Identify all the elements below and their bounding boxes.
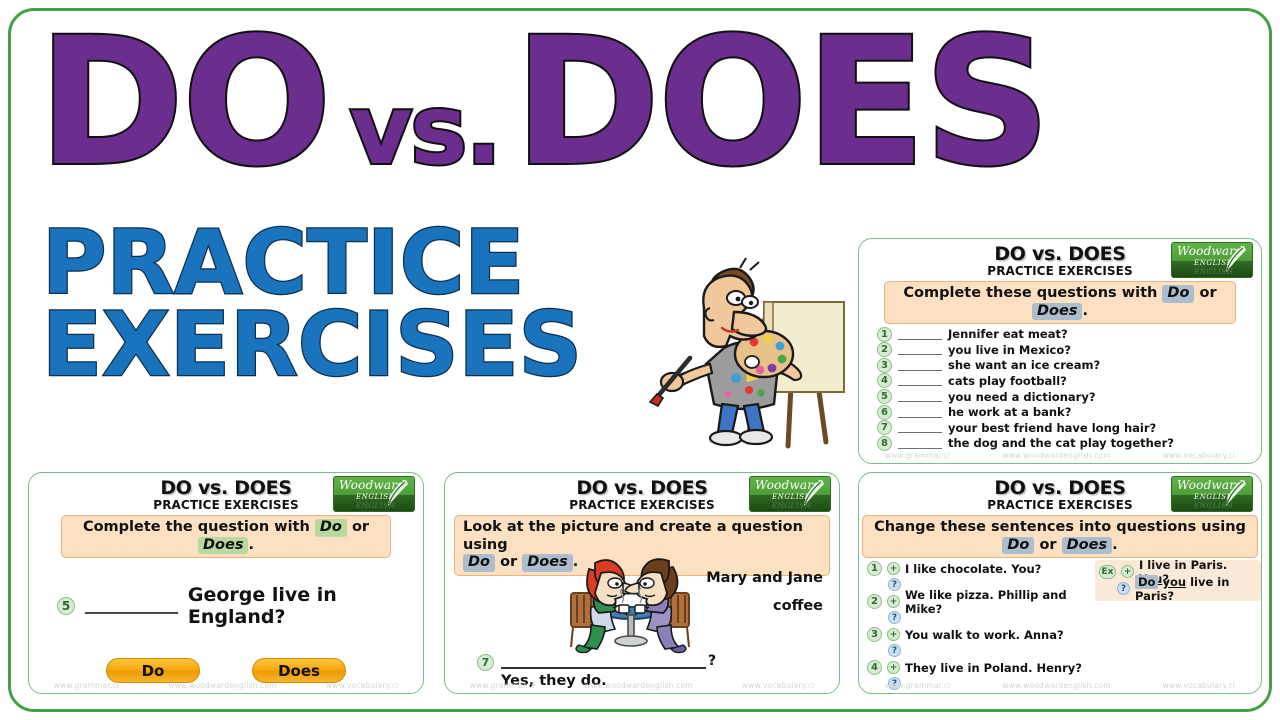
chip-do: Do — [1002, 537, 1034, 555]
title-word-do: DO — [38, 22, 330, 184]
footer-watermarks: www.grammar.cl www.woodwardenglish.com w… — [859, 681, 1261, 690]
statement-text: We like pizza. Phillip and Mike? — [905, 588, 1093, 616]
banner-text-mid: or — [1039, 537, 1056, 553]
banner-text-pre: Complete the question with — [83, 519, 310, 535]
list-item[interactable]: 2 + We like pizza. Phillip and Mike? ? — [867, 593, 1093, 625]
exercise-list: 1 + I like chocolate. You? ? 2 + We like… — [867, 560, 1093, 692]
banner-text-post: . — [1082, 303, 1088, 319]
watermark-grammar: www.grammar.cl — [885, 681, 951, 690]
instruction-banner: Complete these questions with Do or Does… — [884, 281, 1236, 324]
question-text: cats play football? — [948, 374, 1067, 388]
watermark-vocabulary: www.vocabulary.cl — [1163, 681, 1235, 690]
item-number: 1 — [877, 327, 892, 342]
item-number: 7 — [477, 654, 494, 671]
example-answer-do: Do — [1135, 575, 1158, 589]
statement-text: I like chocolate. You? — [905, 562, 1041, 576]
item-number: 4 — [877, 373, 892, 388]
plus-icon: + — [887, 661, 900, 674]
woodward-english-logo: Woodward ENGLISH ENGLISH — [333, 476, 415, 512]
item-number: 1 — [867, 561, 882, 576]
watermark-vocabulary: www.vocabulary.cl — [742, 681, 814, 690]
banner-text-mid: or — [1199, 285, 1216, 301]
statement-row: 4 + They live in Poland. Henry? — [867, 659, 1093, 676]
card-picture-question: DO vs. DOES PRACTICE EXERCISES Woodward … — [444, 472, 840, 694]
footer-watermarks: www.grammar.cl www.woodwardenglish.com w… — [445, 681, 839, 690]
banner-text-pre: Change these sentences into questions us… — [874, 519, 1246, 535]
question-text: you need a dictionary? — [948, 390, 1096, 404]
question-text: George live in England? — [188, 584, 423, 628]
question-text: your best friend have long hair? — [948, 421, 1156, 435]
banner-text-mid: or — [352, 519, 369, 535]
answer-blank[interactable] — [898, 391, 942, 402]
footer-watermarks: www.grammar.cl www.woodwardenglish.com w… — [29, 681, 423, 690]
example-badge: Ex — [1099, 565, 1116, 579]
woodward-english-logo: Woodward ENGLISH ENGLISH — [1171, 242, 1253, 278]
item-number: 5 — [57, 597, 75, 615]
answer-blank[interactable] — [898, 375, 942, 386]
answer-row[interactable]: ? — [867, 643, 1093, 658]
answer-blank[interactable] — [898, 438, 942, 449]
instruction-banner: Change these sentences into questions us… — [862, 515, 1258, 558]
leaf-icon — [1222, 479, 1248, 509]
statement-row: 3 + You walk to work. Anna? — [867, 626, 1093, 643]
answer-blank[interactable] — [898, 360, 942, 371]
item-number: 7 — [877, 420, 892, 435]
chip-does: Does — [1062, 537, 1112, 555]
page-title: DO vs. DOES — [38, 22, 1253, 212]
plus-icon: + — [887, 628, 900, 641]
list-item[interactable]: 3 she want an ice cream? — [877, 358, 1261, 374]
item-number: 2 — [867, 594, 882, 609]
instruction-banner: Complete the question with Do or Does. — [61, 515, 391, 558]
list-item[interactable]: 5 you need a dictionary? — [877, 389, 1261, 405]
banner-text-pre: Look at the picture and create a questio… — [463, 519, 803, 553]
answer-line-wrap: ? — [501, 652, 716, 669]
question-text: you live in Mexico? — [948, 343, 1071, 357]
subtitle-line-practice: PRACTICE — [42, 222, 702, 304]
chip-do: Do — [315, 519, 347, 537]
card-header: DO vs. DOES PRACTICE EXERCISES Woodward … — [445, 473, 839, 515]
leaf-icon — [800, 479, 826, 509]
item-number: 8 — [877, 436, 892, 451]
watermark-grammar: www.grammar.cl — [54, 681, 120, 690]
question-mark: ? — [708, 653, 716, 669]
answer-blank[interactable] — [501, 652, 706, 669]
list-item[interactable]: 6 he work at a bank? — [877, 404, 1261, 420]
question-icon: ? — [888, 611, 901, 624]
subtitle-line-exercises: EXERCISES — [42, 304, 702, 386]
painter-illustration — [648, 246, 853, 461]
card-header: DO vs. DOES PRACTICE EXERCISES Woodward … — [859, 239, 1261, 281]
example-box: Ex + I live in Paris. You? ? Do you live… — [1095, 560, 1261, 601]
list-item[interactable]: 7 your best friend have long hair? — [877, 420, 1261, 436]
watermark-woodwardenglish: www.woodwardenglish.com — [168, 681, 277, 690]
chip-do: Do — [463, 554, 495, 572]
woodward-english-logo: Woodward ENGLISH ENGLISH — [1171, 476, 1253, 512]
list-item[interactable]: 2 you live in Mexico? — [877, 342, 1261, 358]
exercise-columns: 1 + I like chocolate. You? ? 2 + We like… — [859, 558, 1261, 692]
chip-does: Does — [198, 537, 248, 555]
example-statement-pre: I live in Paris. — [1139, 558, 1227, 572]
picture-caption: Mary and Jane coffee — [691, 565, 823, 620]
quiz-question: 5 George live in England? — [57, 584, 423, 628]
item-number: 3 — [867, 627, 882, 642]
page-subtitle: PRACTICE EXERCISES — [42, 222, 702, 386]
chip-does: Does — [1032, 303, 1082, 321]
card-complete-the-question: DO vs. DOES PRACTICE EXERCISES Woodward … — [28, 472, 424, 694]
answer-buttons: Do Does — [29, 658, 423, 683]
card-header: DO vs. DOES PRACTICE EXERCISES Woodward … — [859, 473, 1261, 515]
statement-text: You walk to work. Anna? — [905, 628, 1064, 642]
leaf-icon — [1222, 245, 1248, 275]
leaf-icon — [384, 479, 410, 509]
question-text: she want an ice cream? — [948, 358, 1100, 372]
list-item[interactable]: 4 cats play football? — [877, 373, 1261, 389]
poster-root: DO vs. DOES PRACTICE EXERCISES — [0, 0, 1280, 720]
title-word-does: DOES — [514, 22, 1049, 184]
watermark-woodwardenglish: www.woodwardenglish.com — [1002, 451, 1111, 460]
question-text: the dog and the cat play together? — [948, 436, 1174, 450]
watermark-woodwardenglish: www.woodwardenglish.com — [584, 681, 693, 690]
caption-line-noun: coffee — [691, 593, 823, 621]
plus-icon: + — [887, 562, 900, 575]
question-icon: ? — [1117, 582, 1130, 595]
question-text: Jennifer eat meat? — [948, 327, 1068, 341]
answer-blank[interactable] — [898, 407, 942, 418]
example-answer-text: Do you live in Paris? — [1135, 575, 1255, 603]
question-text: he work at a bank? — [948, 405, 1071, 419]
answer-blank[interactable] — [898, 422, 942, 433]
card-complete-questions: DO vs. DOES PRACTICE EXERCISES Woodward … — [858, 238, 1262, 464]
item-number: 5 — [877, 389, 892, 404]
answer-blank[interactable] — [85, 599, 178, 614]
woodward-english-logo: Woodward ENGLISH ENGLISH — [749, 476, 831, 512]
item-number: 6 — [877, 405, 892, 420]
banner-text-mid: or — [500, 554, 517, 570]
answer-blank[interactable] — [898, 329, 942, 340]
answer-button-do[interactable]: Do — [106, 658, 200, 683]
list-item[interactable]: 8 the dog and the cat play together? — [877, 436, 1261, 452]
question-list: 1 Jennifer eat meat? 2 you live in Mexic… — [859, 324, 1261, 451]
footer-watermarks: www.grammar.cl www.woodwardenglish.com w… — [859, 451, 1261, 460]
list-item[interactable]: 3 + You walk to work. Anna? ? — [867, 626, 1093, 658]
answer-blank[interactable] — [898, 344, 942, 355]
example-answer-row: ? Do you live in Paris? — [1099, 580, 1255, 597]
watermark-grammar: www.grammar.cl — [885, 451, 951, 460]
item-number: 4 — [867, 660, 882, 675]
coffee-friends-illustration — [557, 551, 707, 656]
example-column: Ex + I live in Paris. You? ? Do you live… — [1093, 560, 1261, 692]
card-header: DO vs. DOES PRACTICE EXERCISES Woodward … — [29, 473, 423, 515]
list-item[interactable]: 1 Jennifer eat meat? — [877, 326, 1261, 342]
watermark-vocabulary: www.vocabulary.cl — [1163, 451, 1235, 460]
watermark-woodwardenglish: www.woodwardenglish.com — [1002, 681, 1111, 690]
caption-line-names: Mary and Jane — [691, 565, 823, 593]
example-answer-subject: you — [1162, 575, 1186, 589]
plus-icon: + — [1121, 565, 1134, 578]
watermark-grammar: www.grammar.cl — [470, 681, 536, 690]
statement-row: 1 + I like chocolate. You? — [867, 560, 1093, 577]
answer-button-does[interactable]: Does — [252, 658, 346, 683]
question-icon: ? — [888, 578, 901, 591]
title-vs: vs. — [350, 74, 500, 186]
statement-row: 2 + We like pizza. Phillip and Mike? — [867, 593, 1093, 610]
statement-text: They live in Poland. Henry? — [905, 661, 1082, 675]
plus-icon: + — [887, 595, 900, 608]
banner-text-post: . — [248, 537, 254, 553]
banner-text-pre: Complete these questions with — [903, 285, 1157, 301]
item-number: 2 — [877, 342, 892, 357]
question-icon: ? — [888, 644, 901, 657]
item-number: 3 — [877, 358, 892, 373]
card-change-into-questions: DO vs. DOES PRACTICE EXERCISES Woodward … — [858, 472, 1262, 694]
watermark-vocabulary: www.vocabulary.cl — [326, 681, 398, 690]
chip-do: Do — [1162, 285, 1194, 303]
answer-row: 7 ? — [477, 652, 716, 671]
banner-text-post: . — [1112, 537, 1118, 553]
